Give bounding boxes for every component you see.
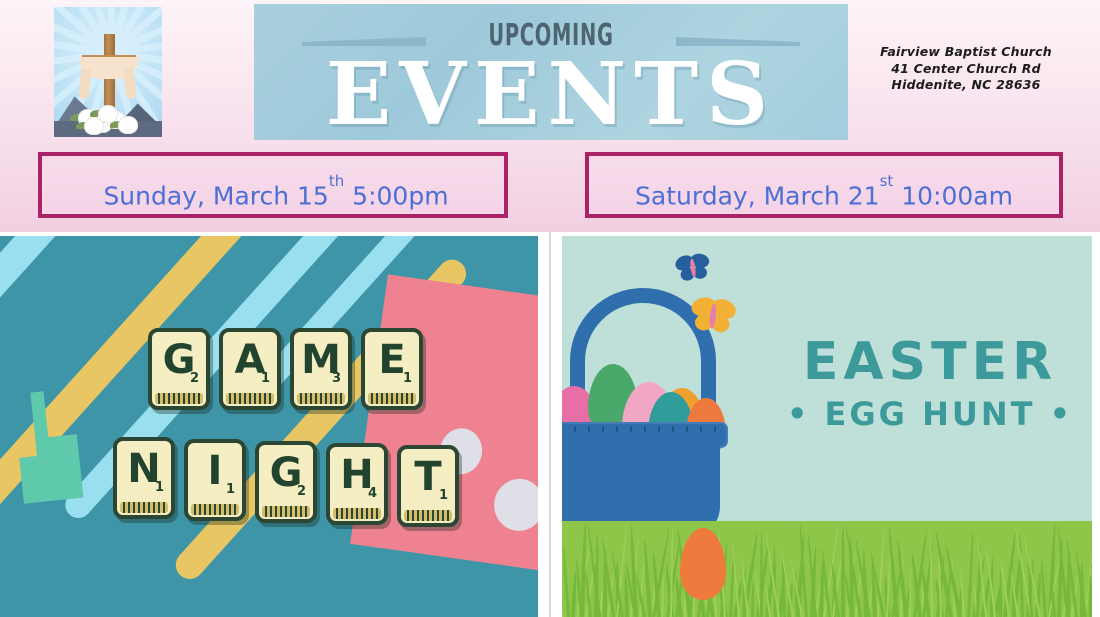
tile-ridge [297,393,345,404]
tile-points: 2 [190,371,199,386]
address-line-3: Hiddenite, NC 28636 [866,77,1066,94]
event-1-date-suffix: 5:00pm [344,181,448,210]
scrabble-tile-n: N1 [113,437,175,519]
tile-ridge [262,506,310,517]
address-line-1: Fairview Baptist Church [866,44,1066,61]
easter-egg-hunt-image[interactable]: EASTER • EGG HUNT • [562,236,1092,617]
tile-ridge [155,393,203,404]
scrabble-tile-t: T1 [397,445,459,527]
tile-ridge [368,393,416,404]
scrabble-tile-m: M3 [290,328,352,410]
tile-ridge [333,508,381,519]
tile-points: 1 [226,482,235,497]
banner-events-text: EVENTS [254,52,848,138]
grass-blade [1088,575,1092,617]
tile-ridge [226,393,274,404]
pink-die-shape [350,274,538,573]
address-line-2: 41 Center Church Rd [866,61,1066,78]
tile-points: 1 [261,371,270,386]
die-dot-2 [491,476,538,534]
tile-ridge [191,504,239,515]
event-2-date-box[interactable]: Saturday, March 21st 10:00am [585,152,1063,218]
scrabble-tile-e: E1 [361,328,423,410]
church-address: Fairview Baptist Church 41 Center Church… [866,44,1066,94]
event-1-date-text: Sunday, March 15th 5:00pm [97,175,448,214]
tile-points: 3 [332,371,341,386]
lily-flower [118,116,138,134]
tile-points: 2 [297,484,306,499]
event-2-date-text: Saturday, March 21st 10:00am [635,175,1013,214]
event-images-row: G2A1M3E1 N1I1G2H4T1 EASTER • EGG HUNT • [0,232,1100,617]
flyer-root: UPCOMING EVENTS Fairview Baptist Church … [0,0,1100,617]
panel-divider [549,232,551,617]
event-2-date-suffix: 10:00am [893,181,1013,210]
event-1-date-box[interactable]: Sunday, March 15th 5:00pm [38,152,508,218]
game-night-image[interactable]: G2A1M3E1 N1I1G2H4T1 [0,236,538,617]
easter-title-line-1: EASTER [774,334,1086,390]
tile-points: 1 [439,488,448,503]
scrabble-tile-g: G2 [148,328,210,410]
scrabble-tile-i: I1 [184,439,246,521]
tile-ridge [120,502,168,513]
scrabble-tile-h: H4 [326,443,388,525]
event-1-date-ordinal: th [329,172,344,190]
event-1-date-prefix: Sunday, March 15 [103,181,328,210]
event-2-date-prefix: Saturday, March 21 [635,181,880,210]
tile-points: 1 [403,371,412,386]
tile-points: 4 [368,486,377,501]
easter-title-line-2: • EGG HUNT • [774,396,1086,432]
orange-butterfly-icon [688,293,739,338]
blue-butterfly-icon [673,250,713,286]
tile-points: 1 [155,480,164,495]
lily-flower [84,117,104,135]
header: UPCOMING EVENTS Fairview Baptist Church … [0,0,1100,232]
tile-ridge [404,510,452,521]
event-2-date-ordinal: st [880,172,894,190]
upcoming-events-banner: UPCOMING EVENTS [254,4,848,140]
scrabble-tile-a: A1 [219,328,281,410]
scrabble-tile-g: G2 [255,441,317,523]
easter-cross-icon [54,7,162,137]
